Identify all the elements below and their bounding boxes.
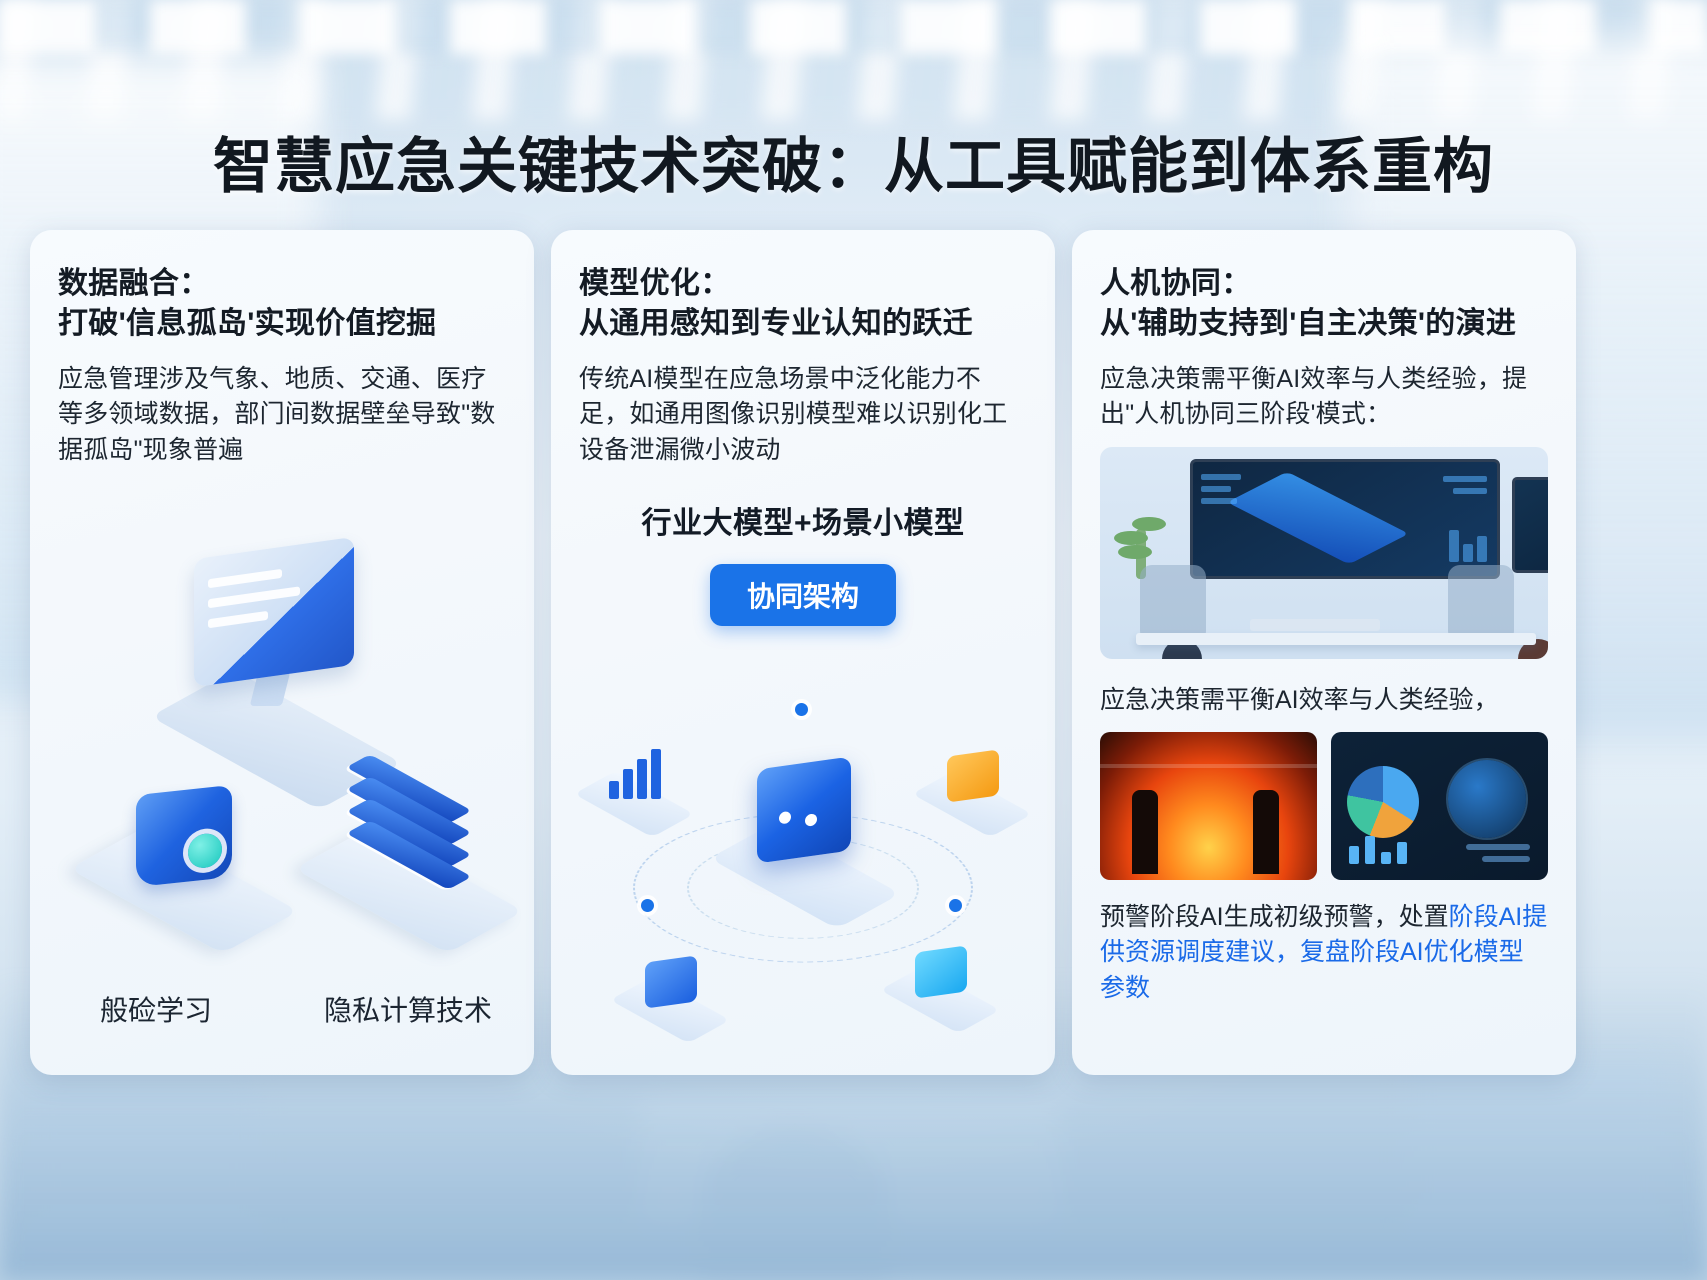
footer-plain-text: 预警阶段AI生成初级预警，处置 bbox=[1100, 903, 1449, 931]
card-heading: 人机协同： 从'辅助支持到'自主决策'的演进 bbox=[1100, 264, 1548, 344]
card-body-text: 传统AI模型在应急场景中泛化能力不足，如通用图像识别模型难以识别化工设备泄漏微小… bbox=[579, 362, 1027, 469]
big-screen-display bbox=[1190, 459, 1500, 579]
node-blue-icon bbox=[621, 953, 721, 1039]
pie-chart-icon bbox=[1347, 766, 1419, 838]
screen-isometric-map bbox=[1227, 471, 1409, 564]
node-cube-shape bbox=[645, 955, 697, 1008]
page-title: 智慧应急关键技术突破：从工具赋能到体系重构 bbox=[0, 118, 1707, 205]
card-heading-line1: 模型优化： bbox=[579, 267, 731, 300]
shield-shape bbox=[136, 785, 232, 887]
card-note-text: 应急决策需平衡AI效率与人类经验， bbox=[1100, 683, 1548, 718]
firefighter-silhouette-right bbox=[1253, 790, 1279, 874]
monitor-screen bbox=[194, 537, 354, 687]
card-heading-line1: 人机协同： bbox=[1100, 267, 1252, 300]
illustration-orbit-network bbox=[551, 685, 1055, 1075]
thumbnail-data-dashboard[interactable] bbox=[1331, 732, 1548, 880]
card-heading-line2: 从通用感知到专业认知的跃迁 bbox=[579, 304, 1027, 344]
thumbnail-fire-scene[interactable] bbox=[1100, 732, 1317, 880]
firefighter-silhouette-left bbox=[1132, 790, 1158, 874]
chair-right bbox=[1448, 565, 1514, 643]
card-body-text: 应急管理涉及气象、地质、交通、医疗等多领域数据，部门间数据壁垒导致"数据孤岛"现… bbox=[58, 362, 506, 469]
globe-icon bbox=[1448, 760, 1526, 838]
node-analytics-icon bbox=[585, 747, 685, 833]
node-amber-icon bbox=[923, 747, 1023, 833]
monitor-icon bbox=[148, 548, 418, 778]
node-cube-shape bbox=[915, 945, 967, 998]
fire-rail bbox=[1100, 764, 1317, 768]
central-hub-cube bbox=[749, 763, 859, 913]
card-footer-text: 预警阶段AI生成初级预警，处置阶段AI提供资源调度建议，复盘阶段AI优化模型参数 bbox=[1100, 900, 1548, 1007]
orbit-node-dot-right bbox=[949, 899, 962, 912]
control-room-scene bbox=[1100, 447, 1548, 659]
database-stack-icon bbox=[305, 770, 515, 950]
node-cube-shape bbox=[947, 749, 999, 802]
card-data-fusion[interactable]: 数据融合： 打破'信息孤岛'实现价值挖掘 应急管理涉及气象、地质、交通、医疗等多… bbox=[30, 230, 534, 1075]
card-heading: 数据融合： 打破'信息孤岛'实现价值挖掘 bbox=[58, 264, 506, 344]
node-cyan-icon bbox=[891, 943, 991, 1029]
thumbnail-row bbox=[1100, 732, 1548, 880]
model-formula-text: 行业大模型+场景小模型 bbox=[579, 498, 1027, 542]
card-heading-line2: 从'辅助支持到'自主决策'的演进 bbox=[1100, 304, 1548, 344]
side-monitor bbox=[1512, 477, 1548, 573]
label-privacy-computing: 隐私计算技术 bbox=[282, 989, 534, 1029]
shield-lock-icon bbox=[80, 770, 290, 950]
collaborative-architecture-badge[interactable]: 协同架构 bbox=[710, 564, 896, 626]
card-human-ai-collaboration[interactable]: 人机协同： 从'辅助支持到'自主决策'的演进 应急决策需平衡AI效率与人类经验，… bbox=[1072, 230, 1576, 1075]
hub-cube-shape bbox=[757, 756, 851, 863]
database-layers bbox=[353, 776, 465, 886]
control-room-illustration bbox=[1100, 447, 1548, 659]
card-heading: 模型优化： 从通用感知到专业认知的跃迁 bbox=[579, 264, 1027, 344]
desk-surface bbox=[1136, 633, 1536, 645]
card-model-optimization[interactable]: 模型优化： 从通用感知到专业认知的跃迁 传统AI模型在应急场景中泛化能力不足，如… bbox=[551, 230, 1055, 1075]
orbit-node-dot-left bbox=[641, 899, 654, 912]
card-heading-line1: 数据融合： bbox=[58, 267, 210, 300]
cards-container: 数据融合： 打破'信息孤岛'实现价值挖掘 应急管理涉及气象、地质、交通、医疗等多… bbox=[30, 230, 1677, 1075]
card-icon-labels: 般硷学习 隐私计算技术 bbox=[30, 989, 534, 1029]
illustration-data-fusion bbox=[30, 520, 534, 1020]
orbit-node-dot-top bbox=[795, 703, 808, 716]
chair-left bbox=[1140, 565, 1206, 643]
keyboard bbox=[1250, 619, 1380, 631]
card-body-text: 应急决策需平衡AI效率与人类经验，提出"人机协同三阶段'模式： bbox=[1100, 362, 1548, 433]
label-federated-learning: 般硷学习 bbox=[30, 989, 282, 1029]
bar-chart-icon bbox=[607, 749, 665, 799]
card-heading-line2: 打破'信息孤岛'实现价值挖掘 bbox=[58, 304, 506, 344]
